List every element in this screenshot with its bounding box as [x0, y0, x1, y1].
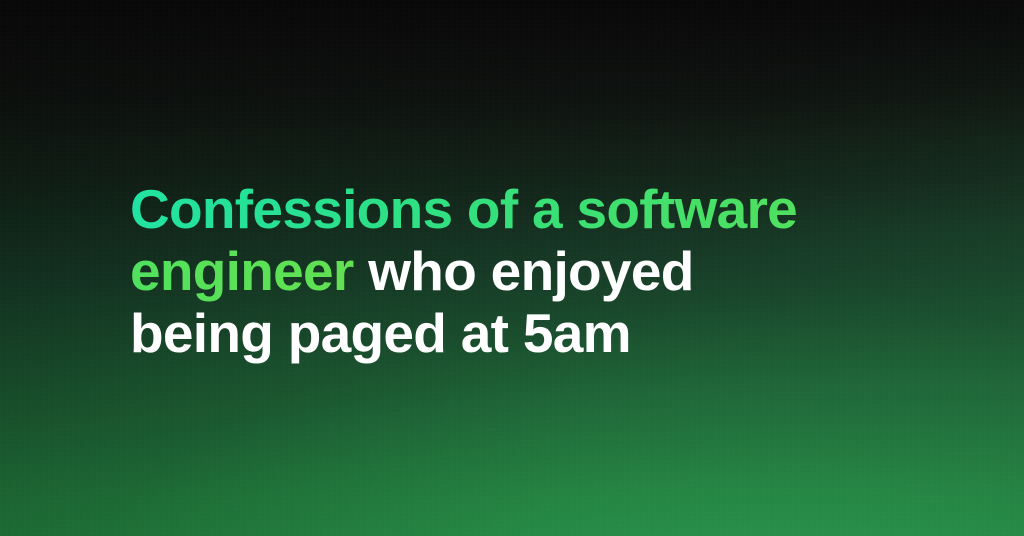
hero-banner: Confessions of a software engineer who e… [0, 0, 1024, 536]
page-title: Confessions of a software engineer who e… [130, 178, 830, 364]
